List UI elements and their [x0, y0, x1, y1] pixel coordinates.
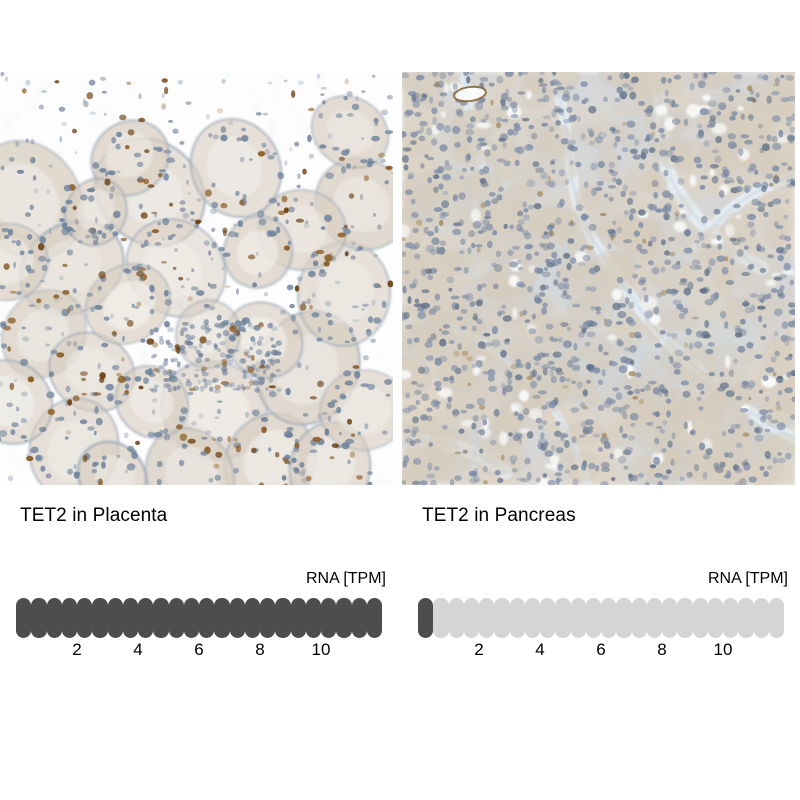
- rna-segment: [214, 598, 229, 638]
- rna-segment: [62, 598, 77, 638]
- rna-segment: [723, 598, 738, 638]
- rna-segment: [555, 598, 570, 638]
- rna-segment: [123, 598, 138, 638]
- rna-segment: [525, 598, 540, 638]
- micrograph-canvas-placenta: [0, 72, 393, 485]
- rna-segment: [291, 598, 306, 638]
- rna-axis-label-placenta: RNA [TPM]: [306, 570, 386, 588]
- rna-segment: [245, 598, 260, 638]
- rna-segment: [92, 598, 107, 638]
- caption-placenta: TET2 in Placenta: [20, 505, 167, 527]
- ihc-micrograph-placenta[interactable]: [0, 72, 393, 485]
- rna-segment: [708, 598, 723, 638]
- caption-pancreas: TET2 in Pancreas: [422, 505, 576, 527]
- rna-segment: [479, 598, 494, 638]
- rna-segment: [418, 598, 433, 638]
- poster-root: TET2 in Placenta RNA [TPM] 246810 TET2 i…: [0, 0, 800, 800]
- rna-segment: [153, 598, 168, 638]
- rna-segment: [352, 598, 367, 638]
- rna-segment: [321, 598, 336, 638]
- rna-tick-label: 4: [133, 640, 142, 660]
- rna-bar-track-pancreas[interactable]: [418, 598, 784, 638]
- rna-segment: [77, 598, 92, 638]
- rna-segment: [662, 598, 677, 638]
- rna-segment: [184, 598, 199, 638]
- rna-segment: [199, 598, 214, 638]
- rna-segment: [693, 598, 708, 638]
- rna-segment: [47, 598, 62, 638]
- rna-segment: [260, 598, 275, 638]
- rna-segment: [769, 598, 784, 638]
- rna-segment: [616, 598, 631, 638]
- micrograph-canvas-pancreas: [402, 72, 795, 485]
- rna-segment: [586, 598, 601, 638]
- rna-segment: [601, 598, 616, 638]
- rna-segment: [632, 598, 647, 638]
- rna-tick-label: 6: [194, 640, 203, 660]
- rna-tick-label: 4: [535, 640, 544, 660]
- panel-pancreas: TET2 in Pancreas RNA [TPM] 246810: [400, 0, 800, 800]
- rna-segment: [16, 598, 31, 638]
- rna-tick-row-placenta: 246810: [16, 640, 382, 664]
- rna-segment: [754, 598, 769, 638]
- rna-segment: [367, 598, 382, 638]
- rna-segment: [677, 598, 692, 638]
- rna-segment: [464, 598, 479, 638]
- rna-tick-label: 6: [596, 640, 605, 660]
- rna-tick-label: 8: [657, 640, 666, 660]
- rna-segment: [571, 598, 586, 638]
- rna-tick-label: 8: [255, 640, 264, 660]
- rna-tick-label: 10: [714, 640, 733, 660]
- rna-tick-label: 10: [312, 640, 331, 660]
- ihc-micrograph-pancreas[interactable]: [402, 72, 795, 485]
- rna-segment: [306, 598, 321, 638]
- rna-segment: [275, 598, 290, 638]
- rna-segment: [647, 598, 662, 638]
- rna-segment: [510, 598, 525, 638]
- rna-segment: [433, 598, 448, 638]
- rna-segment: [138, 598, 153, 638]
- rna-tick-label: 2: [72, 640, 81, 660]
- rna-segment: [449, 598, 464, 638]
- rna-segment: [108, 598, 123, 638]
- rna-segment: [230, 598, 245, 638]
- panel-placenta: TET2 in Placenta RNA [TPM] 246810: [0, 0, 400, 800]
- rna-segment: [738, 598, 753, 638]
- rna-tick-row-pancreas: 246810: [418, 640, 784, 664]
- rna-segment: [540, 598, 555, 638]
- rna-bar-track-placenta[interactable]: [16, 598, 382, 638]
- rna-segment: [31, 598, 46, 638]
- rna-tick-label: 2: [474, 640, 483, 660]
- rna-segment: [336, 598, 351, 638]
- rna-segment: [494, 598, 509, 638]
- rna-segment: [169, 598, 184, 638]
- rna-axis-label-pancreas: RNA [TPM]: [708, 570, 788, 588]
